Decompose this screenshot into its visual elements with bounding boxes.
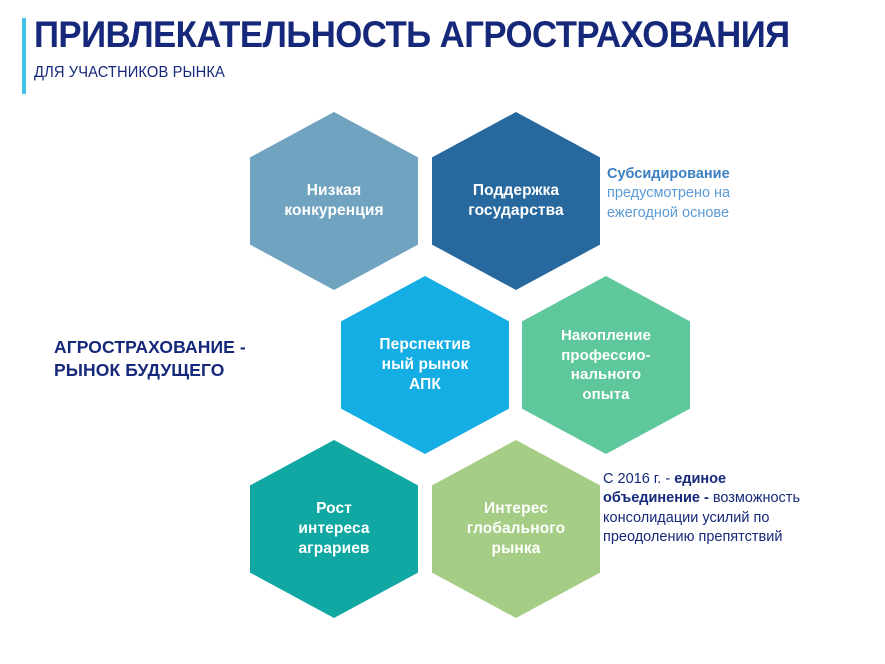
hexagon-diagram: Низкая конкуренция Поддержка государства… <box>0 0 885 664</box>
hexagon-professional-experience[interactable]: Накопление профессио- нального опыта <box>522 276 690 454</box>
annotation-subsidy: Субсидирование предусмотрено на ежегодно… <box>607 165 779 223</box>
hexagon-global-market-interest[interactable]: Интерес глобального рынка <box>432 440 600 618</box>
hexagon-label: Рост интереса аграриев <box>298 499 369 559</box>
hexagon-label: Низкая конкуренция <box>284 181 383 221</box>
annotation-union: С 2016 г. - единое объединение - возможн… <box>603 470 803 548</box>
hexagon-label: Интерес глобального рынка <box>467 499 565 559</box>
hexagon-label: Перспектив ный рынок АПК <box>379 335 470 395</box>
annotation-subsidy-lead: Субсидирование <box>607 166 730 182</box>
hexagon-farmer-interest-growth[interactable]: Рост интереса аграриев <box>250 440 418 618</box>
annotation-union-prefix: С 2016 г. - <box>603 471 674 487</box>
hexagon-state-support[interactable]: Поддержка государства <box>432 112 600 290</box>
annotation-subsidy-body: предусмотрено на ежегодной основе <box>607 185 730 220</box>
hexagon-label: Накопление профессио- нального опыта <box>561 326 651 404</box>
hexagon-low-competition[interactable]: Низкая конкуренция <box>250 112 418 290</box>
hexagon-label: Поддержка государства <box>468 181 564 221</box>
hexagon-promising-market[interactable]: Перспектив ный рынок АПК <box>341 276 509 454</box>
